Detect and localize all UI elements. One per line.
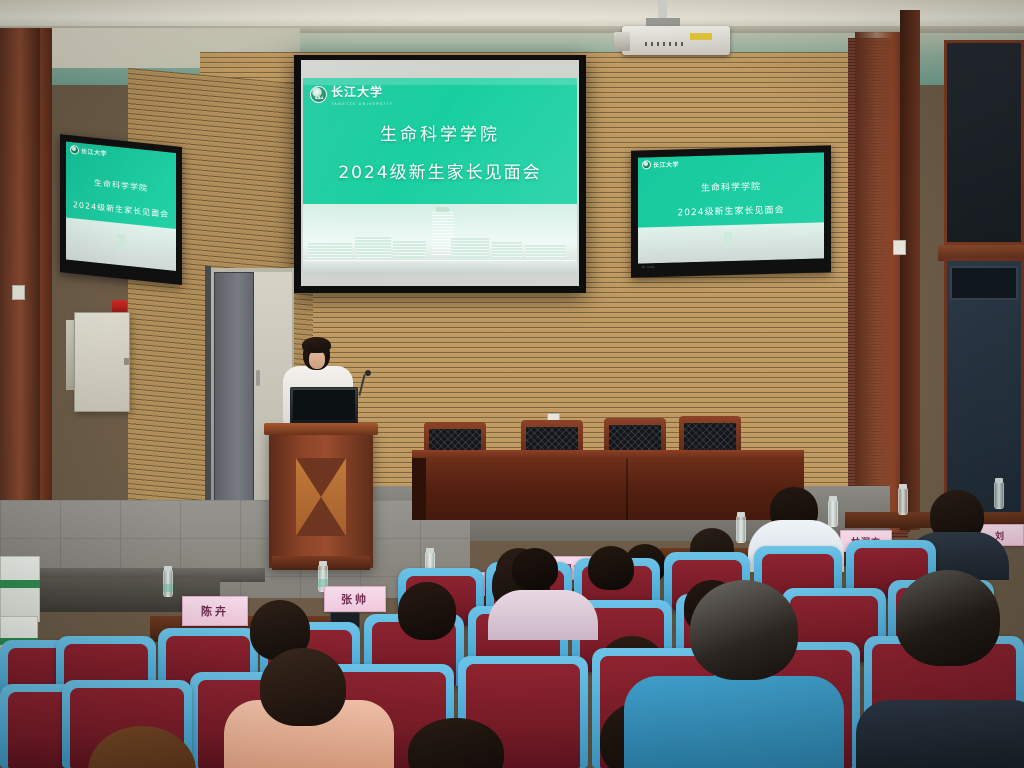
wall-outlet: [893, 240, 906, 255]
left-monitor-title: 生命科学学院: [66, 174, 176, 197]
presenter-hair: [302, 337, 331, 353]
audience-shoulders: [488, 590, 598, 640]
bottle-cap: [164, 566, 172, 571]
left-monitor-screen: 长江大学 生命科学学院 2024级新生家长见面会: [66, 141, 176, 271]
chair-mesh-back: [684, 423, 736, 450]
water-bottle: [898, 488, 908, 515]
projector-badge: [690, 33, 712, 40]
head-table-side: [412, 458, 426, 520]
audience-head: [690, 580, 798, 680]
bottle-cap: [319, 561, 327, 566]
campus-building: [308, 242, 352, 258]
right-monitor-logo: 长江大学: [642, 159, 679, 169]
supply-carton: [0, 556, 40, 622]
university-name-cn: 长江大学: [331, 85, 383, 99]
control-panel-latch[interactable]: [124, 358, 129, 365]
right-monitor-slide: 长江大学 生命科学学院 2024级新生家长见面会: [638, 152, 824, 263]
wood-column-right-outer: [900, 10, 920, 530]
microphone-icon: [365, 370, 371, 376]
right-monitor-subtitle: 2024级新生家长见面会: [638, 201, 824, 219]
projector-icon: [622, 26, 730, 55]
chair-mesh-back: [609, 425, 661, 452]
slide-title: 生命科学学院: [303, 120, 577, 145]
audience-shoulders: [856, 700, 1024, 768]
right-monitor-title: 生命科学学院: [638, 178, 824, 196]
carton-band: [0, 580, 40, 588]
campus-building: [492, 241, 522, 258]
audience-head: [398, 582, 456, 640]
head-table-front: [412, 458, 804, 520]
left-monitor-slide: 长江大学 生命科学学院 2024级新生家长见面会: [66, 141, 176, 271]
head-table-chair[interactable]: [604, 418, 666, 454]
university-name-en: YANGTZE UNIVERSITY: [331, 102, 393, 106]
right-door-transom: [950, 266, 1018, 300]
right-monitor-bezel-label: 4K UHD: [641, 265, 655, 269]
wall-outlet: [12, 285, 25, 300]
photo-water: [303, 261, 577, 274]
bottle-label: [163, 584, 173, 592]
campus-building: [525, 244, 566, 258]
bottle-cap: [426, 548, 434, 553]
projector-lens: [614, 32, 630, 51]
name-placard: 张帅: [324, 586, 386, 612]
bottle-cap: [899, 484, 907, 489]
slide-subtitle: 2024级新生家长见面会: [303, 158, 577, 183]
university-emblem-icon: [642, 160, 651, 169]
wall-control-panel[interactable]: [74, 312, 130, 412]
right-monitor-photo: [638, 222, 824, 263]
audience-shoulders: [624, 676, 844, 768]
water-bottle: [828, 500, 838, 527]
head-table-chair[interactable]: [679, 416, 741, 452]
campus-tower: [724, 232, 732, 248]
left-monitor-logo: 长江大学: [70, 145, 107, 158]
podium-top: [264, 423, 378, 435]
audience-head: [260, 648, 346, 726]
bottle-cap: [829, 496, 837, 501]
name-placard: 陈卉: [182, 596, 248, 626]
auditorium-photo: 长江大学 YANGTZE UNIVERSITY 生命科学学院 2024级新生家长…: [0, 0, 1024, 768]
water-bottle: [736, 516, 746, 543]
water-bottle: [994, 482, 1004, 509]
campus-tower: [117, 234, 125, 251]
right-monitor-university-name: 长江大学: [653, 159, 679, 169]
audience-head: [588, 546, 634, 590]
projector-vents: [645, 42, 685, 46]
podium-inlay-pattern: [296, 458, 346, 536]
right-dark-window: [944, 40, 1024, 245]
audience-head: [896, 570, 1000, 666]
audience-hair-bun: [512, 548, 558, 590]
university-logo: 长江大学 YANGTZE UNIVERSITY: [310, 83, 393, 106]
campus-building: [451, 237, 489, 258]
presentation-slide: 长江大学 YANGTZE UNIVERSITY 生命科学学院 2024级新生家长…: [303, 78, 577, 274]
bottle-cap: [995, 478, 1003, 483]
bottle-cap: [737, 512, 745, 517]
head-table-seam: [626, 458, 628, 520]
right-monitor-screen: 长江大学 生命科学学院 2024级新生家长见面会: [638, 152, 824, 263]
laptop-screen: [293, 390, 355, 420]
left-monitor-university-name: 长江大学: [81, 146, 107, 158]
university-emblem-icon: [310, 86, 327, 103]
campus-building: [393, 240, 426, 258]
door-handle[interactable]: [256, 370, 260, 386]
university-emblem-icon: [70, 145, 79, 155]
left-monitor-subtitle: 2024级新生家长见面会: [66, 198, 176, 221]
campus-building: [355, 236, 391, 258]
slide-campus-photo: [303, 204, 577, 274]
